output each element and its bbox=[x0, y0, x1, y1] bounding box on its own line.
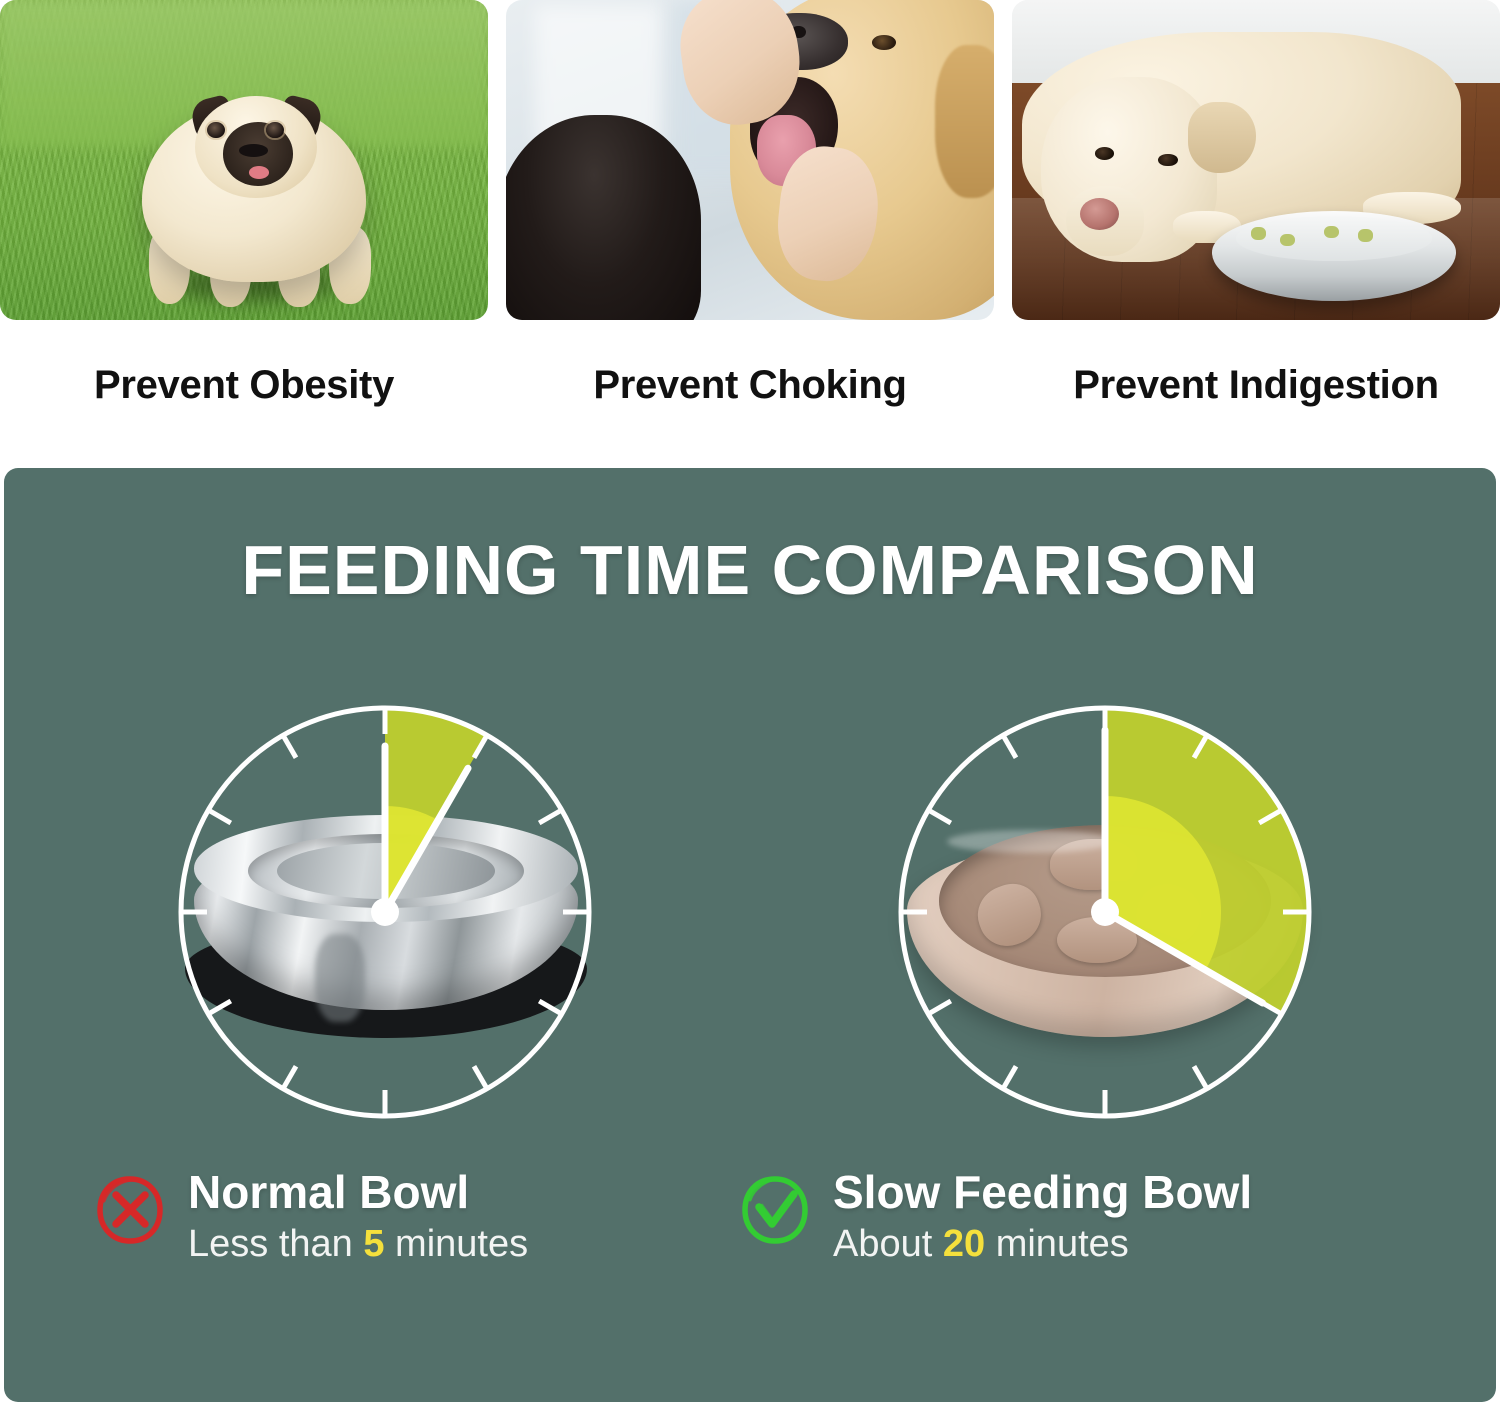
dog-eye bbox=[872, 35, 896, 50]
page-title: FEEDING TIME COMPARISON bbox=[4, 530, 1496, 610]
legend-subtitle-normal-bowl: Less than 5 minutes bbox=[188, 1221, 528, 1269]
benefit-photo-prevent-indigestion bbox=[1012, 0, 1500, 320]
legend-sub-number: 20 bbox=[943, 1223, 985, 1265]
legend-sub-prefix: About bbox=[833, 1223, 943, 1265]
caption-cell-obesity: Prevent Obesity bbox=[0, 320, 488, 450]
person-head-silhouette bbox=[506, 115, 701, 320]
clock-center-hub bbox=[371, 898, 399, 926]
legend-sub-suffix: minutes bbox=[384, 1223, 528, 1265]
kibble bbox=[1324, 226, 1339, 239]
kibble bbox=[1358, 229, 1373, 242]
caption-cell-indigestion: Prevent Indigestion bbox=[1012, 320, 1500, 450]
pug-muzzle bbox=[239, 144, 268, 157]
clock-dial-slow bbox=[879, 686, 1331, 1138]
legend-row: Normal Bowl Less than 5 minutes Slow Fee… bbox=[4, 1168, 1496, 1318]
clock-comparison-row bbox=[4, 686, 1496, 1138]
legend-sub-suffix: minutes bbox=[985, 1223, 1129, 1265]
legend-sub-prefix: Less than bbox=[188, 1223, 363, 1265]
benefit-caption-indigestion: Prevent Indigestion bbox=[1073, 363, 1438, 408]
legend-title-normal-bowl: Normal Bowl bbox=[188, 1168, 528, 1217]
kibble bbox=[1280, 234, 1295, 247]
legend-normal-bowl: Normal Bowl Less than 5 minutes bbox=[94, 1168, 528, 1268]
benefit-photo-prevent-choking bbox=[506, 0, 994, 320]
red-x-circle-icon bbox=[94, 1174, 166, 1246]
clock-dial-normal bbox=[159, 686, 611, 1138]
kibble bbox=[1251, 227, 1266, 240]
bowl-interior bbox=[1236, 216, 1431, 261]
clock-slow-feeding-bowl bbox=[879, 686, 1331, 1138]
benefit-photo-prevent-obesity bbox=[0, 0, 488, 320]
green-check-circle-icon bbox=[739, 1174, 811, 1246]
dog-ear bbox=[935, 45, 994, 199]
pug-eye bbox=[266, 122, 284, 139]
benefit-caption-obesity: Prevent Obesity bbox=[94, 363, 394, 408]
benefit-photo-strip bbox=[0, 0, 1500, 320]
benefit-caption-row: Prevent Obesity Prevent Choking Prevent … bbox=[0, 320, 1500, 450]
legend-title-slow-feeding-bowl: Slow Feeding Bowl bbox=[833, 1168, 1252, 1217]
clock-center-hub bbox=[1091, 898, 1119, 926]
caption-cell-choking: Prevent Choking bbox=[506, 320, 994, 450]
benefit-caption-choking: Prevent Choking bbox=[593, 363, 906, 408]
legend-slow-feeding-bowl: Slow Feeding Bowl About 20 minutes bbox=[739, 1168, 1252, 1268]
feeding-time-comparison-panel: FEEDING TIME COMPARISON bbox=[4, 468, 1496, 1402]
legend-texts: Slow Feeding Bowl About 20 minutes bbox=[833, 1168, 1252, 1268]
pug-eye bbox=[207, 122, 225, 139]
legend-texts: Normal Bowl Less than 5 minutes bbox=[188, 1168, 528, 1268]
clock-normal-bowl bbox=[159, 686, 611, 1138]
legend-sub-number: 5 bbox=[363, 1223, 384, 1265]
legend-subtitle-slow-feeding-bowl: About 20 minutes bbox=[833, 1221, 1252, 1269]
